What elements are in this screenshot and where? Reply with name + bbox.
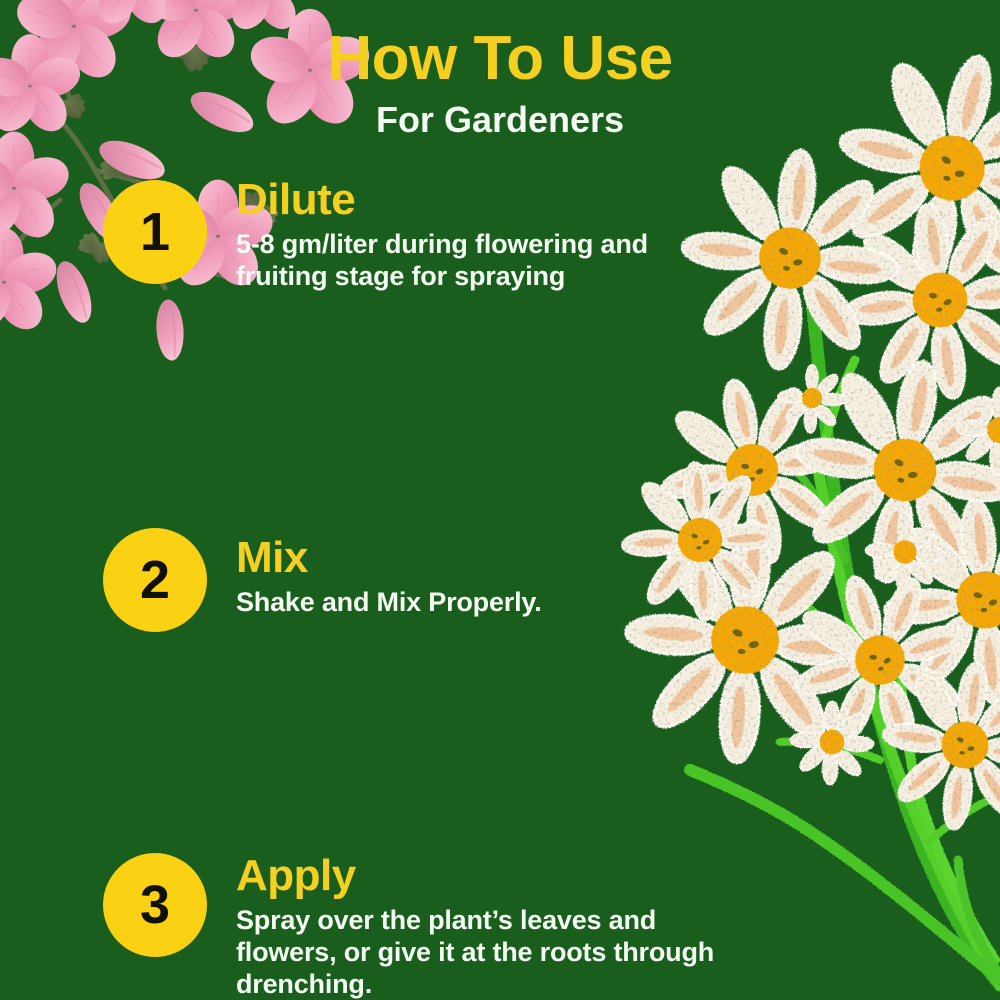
step-item-dilute: 1 Dilute 5-8 gm/liter during flowering a… [0, 180, 720, 330]
step-title-3: Apply [236, 853, 716, 899]
page-title: How To Use [0, 28, 1000, 90]
how-to-use-poster: How To Use For Gardeners 1 Dilute 5-8 gm… [0, 0, 1000, 1000]
step-item-repeat: 4 Repeat Reapply every 10–15 days or as … [0, 630, 720, 780]
step-title-1: Dilute [236, 177, 716, 223]
steps-list: 1 Dilute 5-8 gm/liter during flowering a… [0, 180, 720, 780]
step-number-badge-3: 3 [103, 853, 207, 957]
step-description-1: 5-8 gm/liter during flowering and fruiti… [236, 229, 716, 293]
step-item-apply: 3 Apply Spray over the plant’s leaves an… [0, 480, 720, 630]
step-item-mix: 2 Mix Shake and Mix Properly. [0, 330, 720, 480]
step-body-3: Apply Spray over the plant’s leaves and … [236, 853, 716, 1000]
step-body-1: Dilute 5-8 gm/liter during flowering and… [236, 177, 716, 293]
step-description-3: Spray over the plant’s leaves and flower… [236, 905, 716, 1000]
poster-header: How To Use For Gardeners [0, 28, 1000, 138]
page-subtitle: For Gardeners [0, 102, 1000, 138]
step-number-badge-1: 1 [103, 180, 207, 284]
